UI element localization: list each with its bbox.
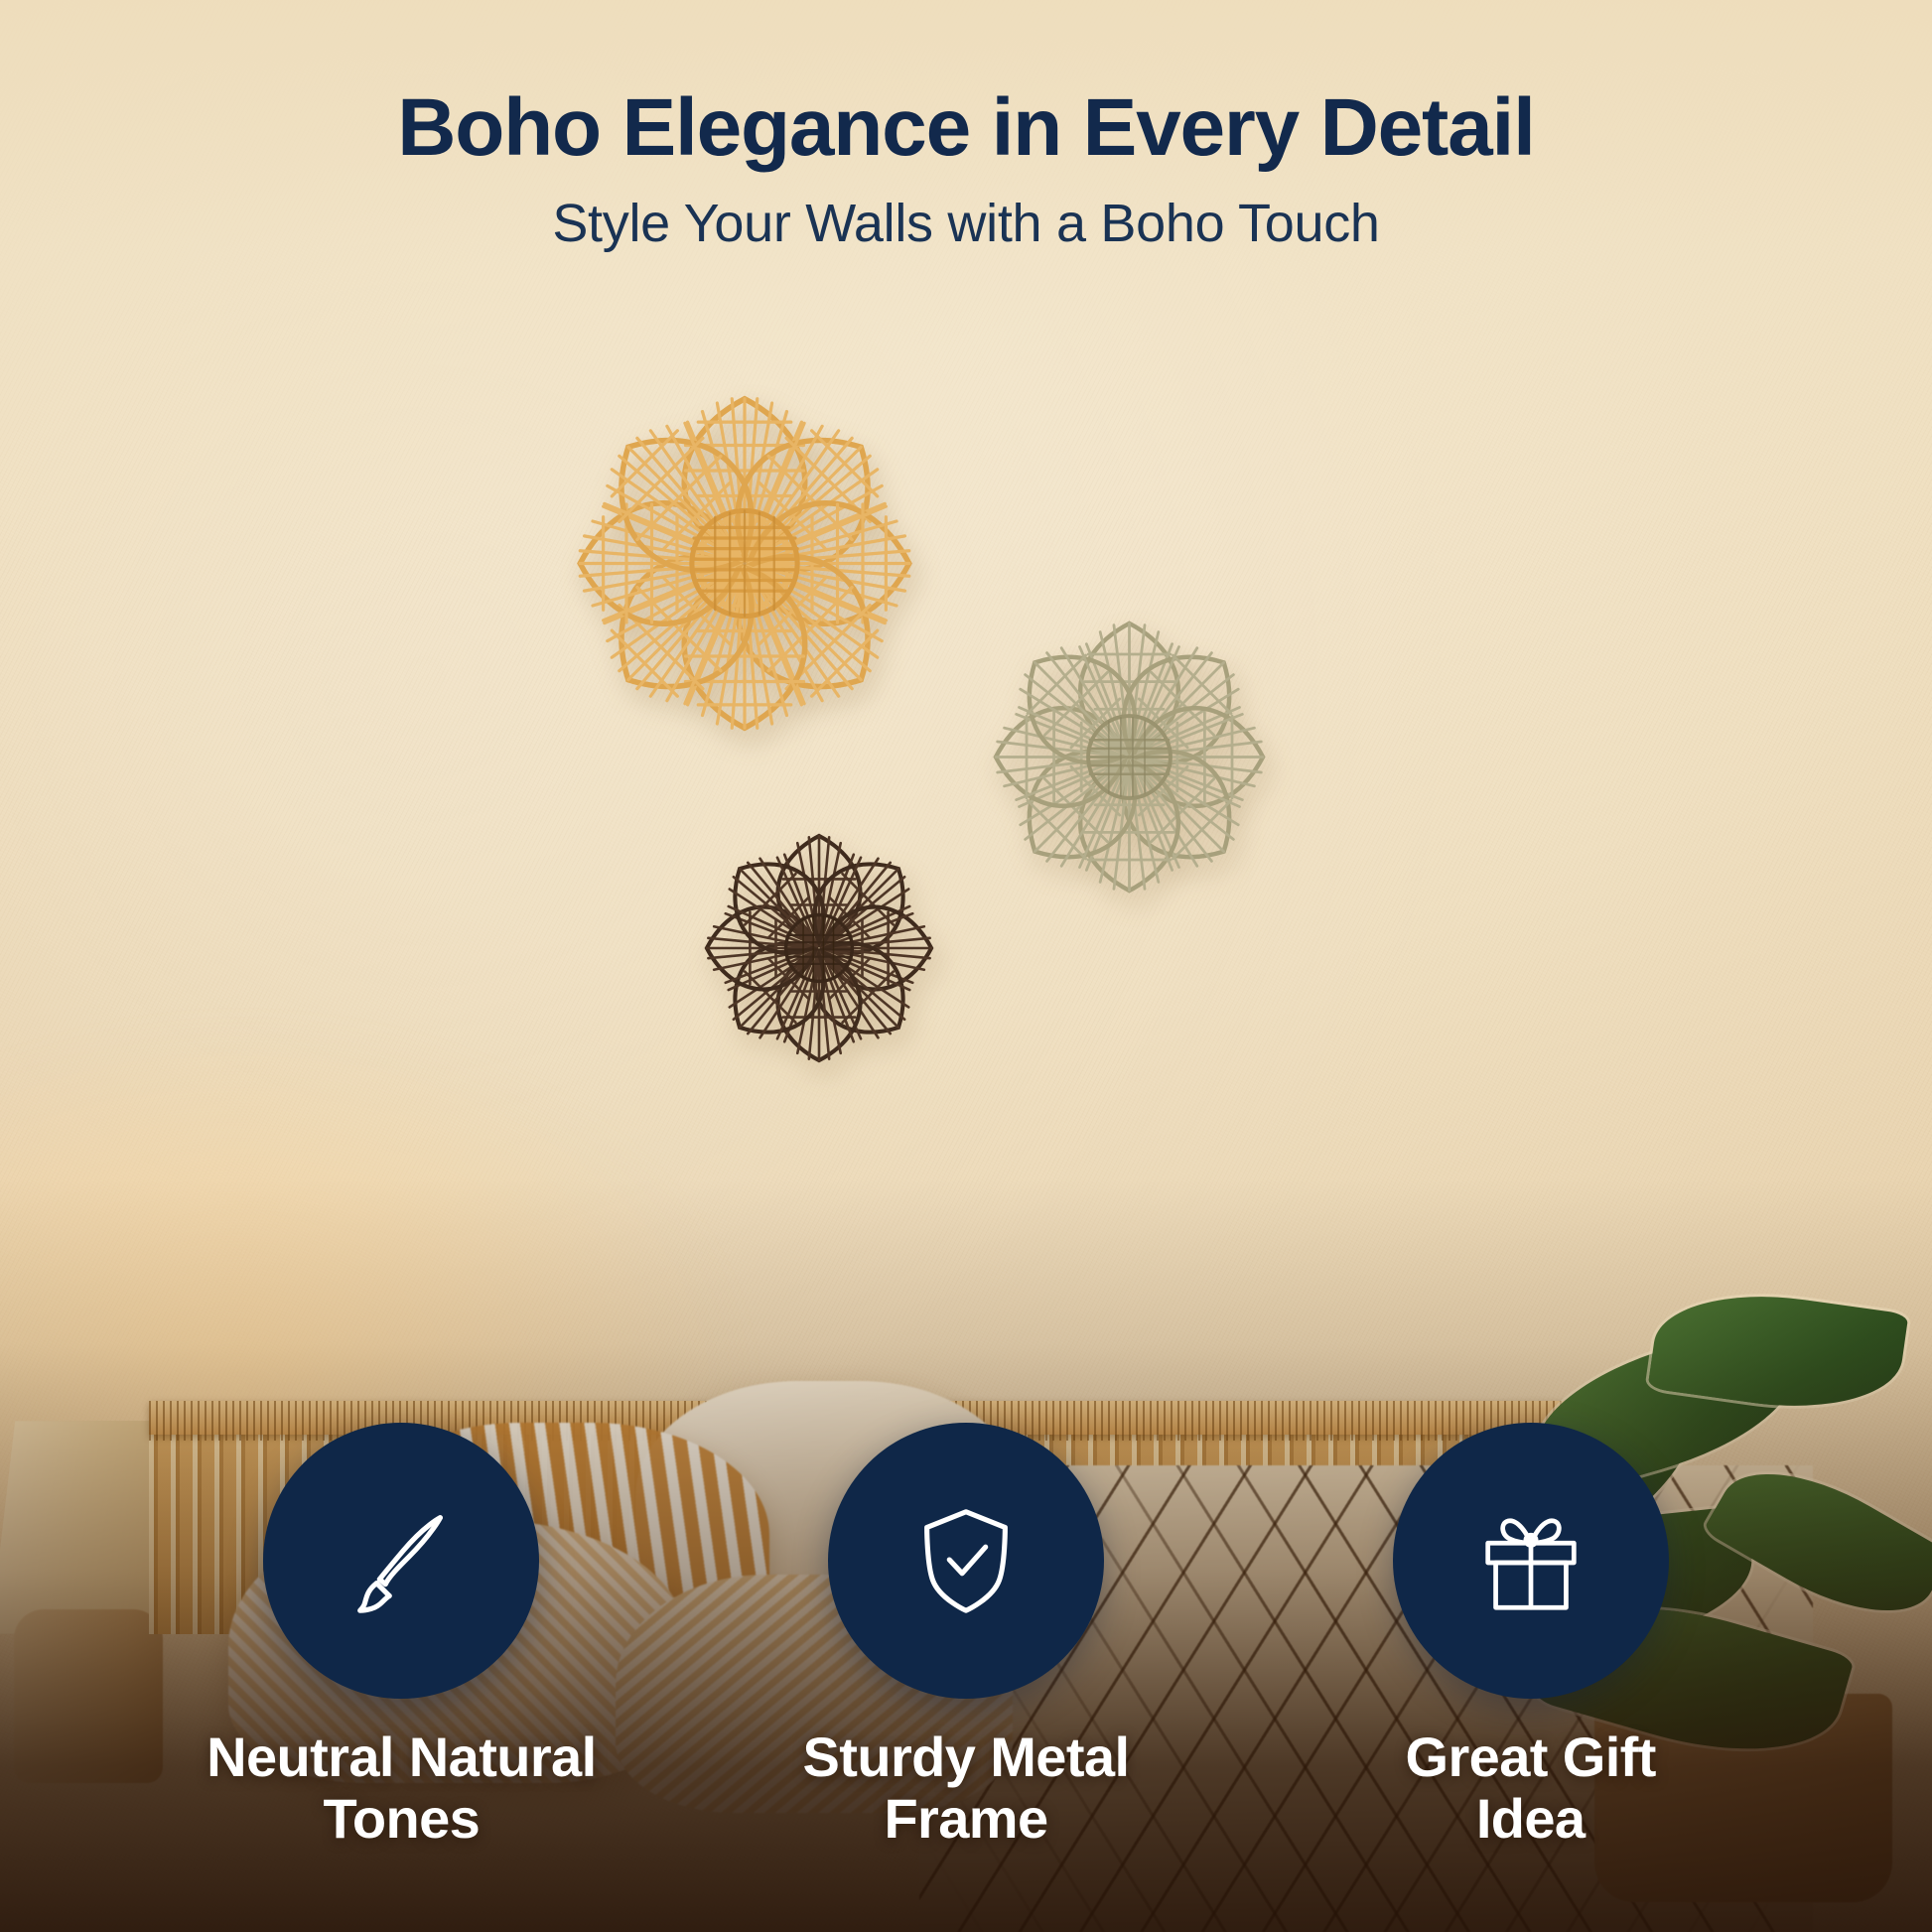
feature-item-neutral-natural-tones: Neutral Natural Tones xyxy=(193,1423,610,1851)
product-infographic: Boho Elegance in Every Detail Style Your… xyxy=(0,0,1932,1932)
feature-list: Neutral Natural Tones Sturdy Metal Frame xyxy=(0,1423,1932,1851)
feature-label: Neutral Natural Tones xyxy=(193,1726,610,1851)
paintbrush-icon xyxy=(339,1498,464,1623)
feature-badge-circle xyxy=(828,1423,1104,1699)
heading-block: Boho Elegance in Every Detail Style Your… xyxy=(0,85,1932,254)
feature-item-sturdy-metal-frame: Sturdy Metal Frame xyxy=(758,1423,1174,1851)
page-subtitle: Style Your Walls with a Boho Touch xyxy=(0,193,1932,254)
gift-box-icon xyxy=(1468,1498,1593,1623)
feature-label: Sturdy Metal Frame xyxy=(758,1726,1174,1851)
feature-item-great-gift-idea: Great Gift Idea xyxy=(1322,1423,1739,1851)
shield-check-icon xyxy=(903,1498,1029,1623)
feature-badge-circle xyxy=(1393,1423,1669,1699)
feature-label: Great Gift Idea xyxy=(1322,1726,1739,1851)
page-title: Boho Elegance in Every Detail xyxy=(0,85,1932,171)
feature-badge-circle xyxy=(263,1423,539,1699)
